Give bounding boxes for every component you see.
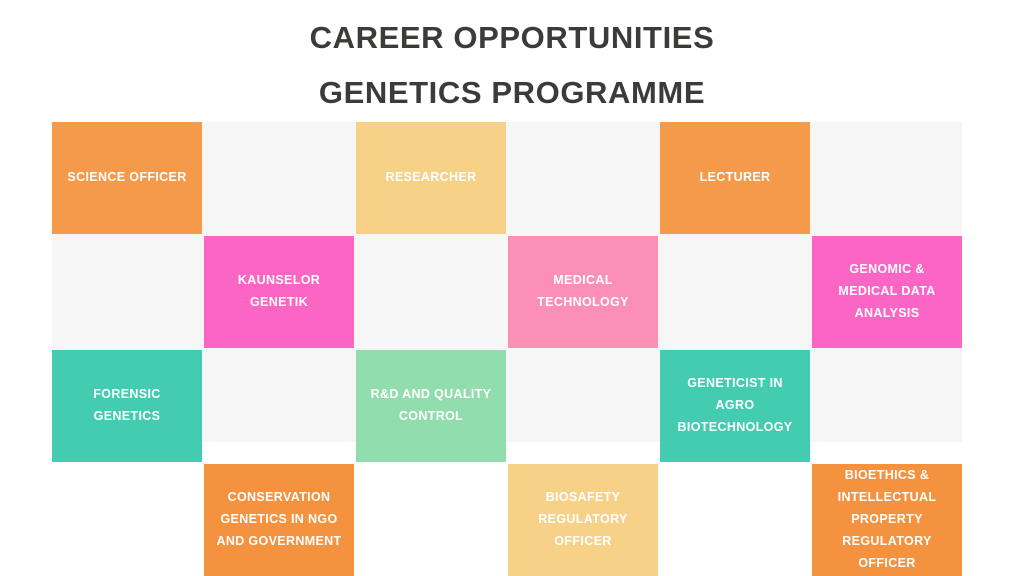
grid-cell-empty-r4c5 bbox=[660, 464, 810, 576]
grid-cell-empty-r1c2 bbox=[204, 122, 354, 234]
career-tile-r2c4[interactable]: MEDICAL TECHNOLOGY bbox=[508, 236, 658, 348]
career-tile-r4c4[interactable]: BIOSAFETY REGULATORY OFFICER bbox=[508, 464, 658, 576]
grid-cell-empty-r3c2 bbox=[204, 350, 354, 462]
poster-title-line-1: CAREER OPPORTUNITIES bbox=[310, 22, 715, 53]
career-tile-label: LECTURER bbox=[700, 167, 771, 189]
career-tile-label: SCIENCE OFFICER bbox=[67, 167, 186, 189]
career-tile-label: MEDICAL TECHNOLOGY bbox=[516, 270, 650, 314]
career-tile-label: FORENSIC GENETICS bbox=[60, 384, 194, 428]
grid-cell-empty-r4c3 bbox=[356, 464, 506, 576]
career-tile-label: RESEARCHER bbox=[385, 167, 476, 189]
grid-cell-empty-r3c4 bbox=[508, 350, 658, 462]
career-tile-r1c1[interactable]: SCIENCE OFFICER bbox=[52, 122, 202, 234]
grid-cell-empty-r2c1 bbox=[52, 236, 202, 348]
career-tile-r2c2[interactable]: KAUNSELOR GENETIK bbox=[204, 236, 354, 348]
grid-cell-empty-r2c3 bbox=[356, 236, 506, 348]
career-opportunities-poster: CAREER OPPORTUNITIES GENETICS PROGRAMME … bbox=[0, 0, 1024, 576]
career-tile-grid: SCIENCE OFFICERRESEARCHERLECTURERKAUNSEL… bbox=[52, 122, 962, 576]
grid-cell-empty-r1c4 bbox=[508, 122, 658, 234]
grid-cell-empty-r3c6 bbox=[812, 350, 962, 462]
poster-title-block: CAREER OPPORTUNITIES GENETICS PROGRAMME bbox=[0, 0, 1024, 122]
career-tile-r1c5[interactable]: LECTURER bbox=[660, 122, 810, 234]
career-tile-r4c2[interactable]: CONSERVATION GENETICS IN NGO AND GOVERNM… bbox=[204, 464, 354, 576]
career-tile-label: BIOETHICS & INTELLECTUAL PROPERTY REGULA… bbox=[820, 465, 954, 574]
poster-title-line-2: GENETICS PROGRAMME bbox=[319, 77, 705, 108]
grid-cell-empty-r2c5 bbox=[660, 236, 810, 348]
grid-cell-empty-r1c6 bbox=[812, 122, 962, 234]
career-tile-label: GENETICIST IN AGRO BIOTECHNOLOGY bbox=[668, 373, 802, 439]
career-tile-r3c3[interactable]: R&D AND QUALITY CONTROL bbox=[356, 350, 506, 462]
career-tile-label: KAUNSELOR GENETIK bbox=[212, 270, 346, 314]
career-tile-r3c5[interactable]: GENETICIST IN AGRO BIOTECHNOLOGY bbox=[660, 350, 810, 462]
career-tile-label: BIOSAFETY REGULATORY OFFICER bbox=[516, 487, 650, 553]
career-tile-r4c6[interactable]: BIOETHICS & INTELLECTUAL PROPERTY REGULA… bbox=[812, 464, 962, 576]
career-tile-r2c6[interactable]: GENOMIC & MEDICAL DATA ANALYSIS bbox=[812, 236, 962, 348]
career-tile-label: CONSERVATION GENETICS IN NGO AND GOVERNM… bbox=[212, 487, 346, 553]
career-tile-r3c1[interactable]: FORENSIC GENETICS bbox=[52, 350, 202, 462]
career-tile-label: R&D AND QUALITY CONTROL bbox=[364, 384, 498, 428]
career-tile-label: GENOMIC & MEDICAL DATA ANALYSIS bbox=[820, 259, 954, 325]
career-tile-r1c3[interactable]: RESEARCHER bbox=[356, 122, 506, 234]
grid-cell-empty-r4c1 bbox=[52, 464, 202, 576]
